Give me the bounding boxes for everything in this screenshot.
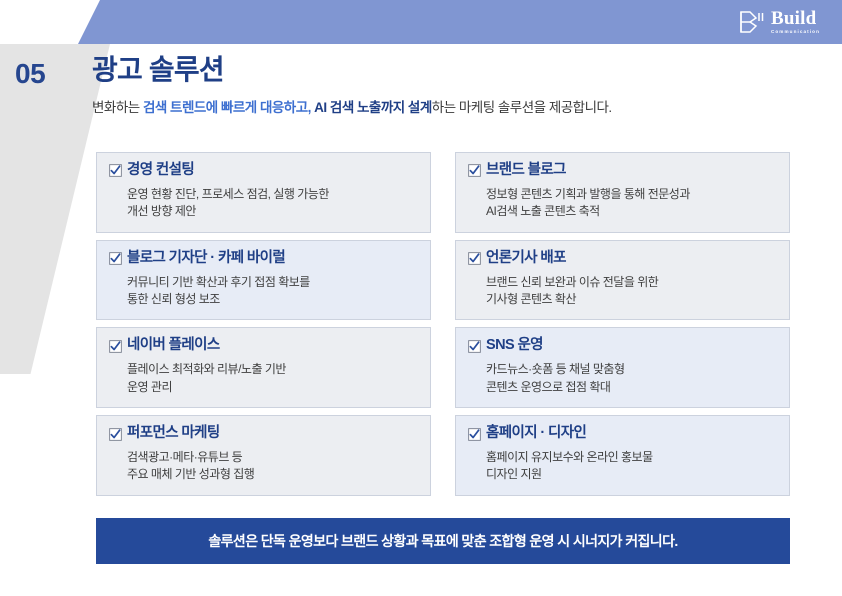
card-description-line: 통한 신뢰 형성 보조 — [127, 291, 418, 308]
footer-banner-text: 솔루션은 단독 운영보다 브랜드 상황과 목표에 맞춘 조합형 운영 시 시너지… — [208, 531, 677, 551]
card-description-line: 주요 매체 기반 성과형 집행 — [127, 466, 418, 483]
card-description: 커뮤니티 기반 확산과 후기 접점 확보를통한 신뢰 형성 보조 — [127, 274, 418, 309]
solution-card: SNS 운영카드뉴스·숏폼 등 채널 맞춤형콘텐츠 운영으로 접점 확대 — [455, 327, 790, 408]
solution-card-grid: 경영 컨설팅운영 현황 진단, 프로세스 점검, 실행 가능한개선 방향 제안브… — [96, 152, 790, 496]
brand-logo: Build Communication — [739, 9, 820, 35]
card-head: 홈페이지 · 디자인 — [468, 426, 777, 442]
card-description: 운영 현황 진단, 프로세스 점검, 실행 가능한개선 방향 제안 — [127, 186, 418, 221]
page-subtitle: 변화하는 검색 트렌드에 빠르게 대응하고, AI 검색 노출까지 설계하는 마… — [92, 99, 612, 117]
card-title: 브랜드 블로그 — [486, 163, 566, 179]
logo-wordmark: Build Communication — [771, 9, 820, 35]
card-head: 언론기사 배포 — [468, 251, 777, 267]
card-title: 경영 컨설팅 — [127, 163, 194, 179]
decorative-blue-header-band — [78, 0, 842, 44]
solution-card: 브랜드 블로그정보형 콘텐츠 기획과 발행을 통해 전문성과AI검색 노출 콘텐… — [455, 152, 790, 233]
card-title: 언론기사 배포 — [486, 251, 566, 267]
card-description: 검색광고·메타·유튜브 등주요 매체 기반 성과형 집행 — [127, 449, 418, 484]
checkbox-checked-icon — [468, 252, 481, 265]
card-description: 정보형 콘텐츠 기획과 발행을 통해 전문성과AI검색 노출 콘텐츠 축적 — [486, 186, 777, 221]
card-description-line: 운영 현황 진단, 프로세스 점검, 실행 가능한 — [127, 186, 418, 203]
card-description-line: 운영 관리 — [127, 379, 418, 396]
card-description: 카드뉴스·숏폼 등 채널 맞춤형콘텐츠 운영으로 접점 확대 — [486, 361, 777, 396]
logo-subtitle: Communication — [771, 30, 820, 35]
solution-card: 언론기사 배포브랜드 신뢰 보완과 이슈 전달을 위한기사형 콘텐츠 확산 — [455, 240, 790, 321]
card-description-line: 검색광고·메타·유튜브 등 — [127, 449, 418, 466]
card-title: SNS 운영 — [486, 338, 543, 354]
card-head: 경영 컨설팅 — [109, 163, 418, 179]
logo-word: Build — [771, 9, 816, 28]
footer-highlight-banner: 솔루션은 단독 운영보다 브랜드 상황과 목표에 맞춘 조합형 운영 시 시너지… — [96, 518, 790, 564]
title-block: 광고 솔루션 변화하는 검색 트렌드에 빠르게 대응하고, AI 검색 노출까지… — [92, 55, 612, 116]
card-description-line: AI검색 노출 콘텐츠 축적 — [486, 203, 777, 220]
card-description: 브랜드 신뢰 보완과 이슈 전달을 위한기사형 콘텐츠 확산 — [486, 274, 777, 309]
card-title: 퍼포먼스 마케팅 — [127, 426, 220, 442]
checkbox-checked-icon — [109, 428, 122, 441]
checkbox-checked-icon — [109, 164, 122, 177]
subtitle-lead: 변화하는 — [92, 100, 143, 115]
checkbox-checked-icon — [468, 340, 481, 353]
subtitle-accent-strong: AI 검색 노출까지 설계 — [314, 100, 432, 115]
card-head: 퍼포먼스 마케팅 — [109, 426, 418, 442]
checkbox-checked-icon — [109, 252, 122, 265]
checkbox-checked-icon — [109, 340, 122, 353]
section-number: 05 — [15, 58, 45, 90]
card-head: 네이버 플레이스 — [109, 338, 418, 354]
subtitle-tail: 하는 마케팅 솔루션을 제공합니다. — [432, 100, 612, 115]
card-title: 네이버 플레이스 — [127, 338, 220, 354]
card-description-line: 개선 방향 제안 — [127, 203, 418, 220]
page-title: 광고 솔루션 — [92, 55, 612, 86]
card-description-line: 카드뉴스·숏폼 등 채널 맞춤형 — [486, 361, 777, 378]
card-description-line: 콘텐츠 운영으로 접점 확대 — [486, 379, 777, 396]
solution-card: 퍼포먼스 마케팅검색광고·메타·유튜브 등주요 매체 기반 성과형 집행 — [96, 415, 431, 496]
card-description-line: 기사형 콘텐츠 확산 — [486, 291, 777, 308]
card-description-line: 정보형 콘텐츠 기획과 발행을 통해 전문성과 — [486, 186, 777, 203]
solution-card: 네이버 플레이스플레이스 최적화와 리뷰/노출 기반운영 관리 — [96, 327, 431, 408]
solution-card: 블로그 기자단 · 카페 바이럴커뮤니티 기반 확산과 후기 접점 확보를통한 … — [96, 240, 431, 321]
solution-card: 경영 컨설팅운영 현황 진단, 프로세스 점검, 실행 가능한개선 방향 제안 — [96, 152, 431, 233]
card-description: 홈페이지 유지보수와 온라인 홍보물디자인 지원 — [486, 449, 777, 484]
card-description-line: 홈페이지 유지보수와 온라인 홍보물 — [486, 449, 777, 466]
checkbox-checked-icon — [468, 428, 481, 441]
card-head: 블로그 기자단 · 카페 바이럴 — [109, 251, 418, 267]
subtitle-accent: 검색 트렌드에 빠르게 대응하고, — [143, 100, 314, 115]
card-title: 홈페이지 · 디자인 — [486, 426, 586, 442]
card-description-line: 커뮤니티 기반 확산과 후기 접점 확보를 — [127, 274, 418, 291]
build-logo-mark-icon — [739, 10, 765, 34]
solution-card: 홈페이지 · 디자인홈페이지 유지보수와 온라인 홍보물디자인 지원 — [455, 415, 790, 496]
card-description-line: 디자인 지원 — [486, 466, 777, 483]
card-head: SNS 운영 — [468, 338, 777, 354]
card-description: 플레이스 최적화와 리뷰/노출 기반운영 관리 — [127, 361, 418, 396]
card-head: 브랜드 블로그 — [468, 163, 777, 179]
card-description-line: 브랜드 신뢰 보완과 이슈 전달을 위한 — [486, 274, 777, 291]
card-title: 블로그 기자단 · 카페 바이럴 — [127, 251, 285, 267]
checkbox-checked-icon — [468, 164, 481, 177]
card-description-line: 플레이스 최적화와 리뷰/노출 기반 — [127, 361, 418, 378]
